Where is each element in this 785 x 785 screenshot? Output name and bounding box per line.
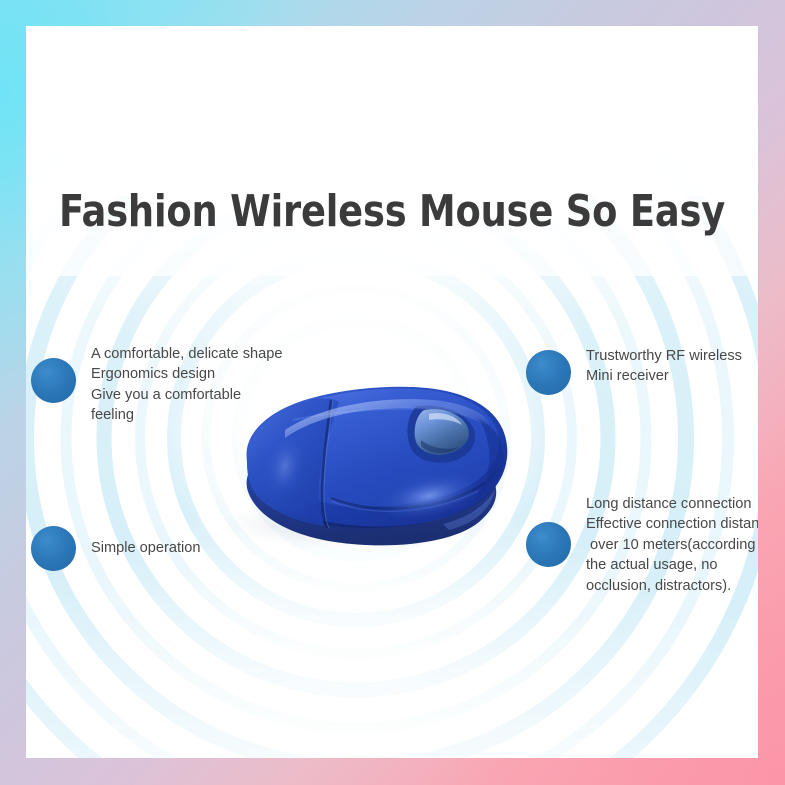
bullet-dot-icon <box>31 526 76 571</box>
page-title: Fashion Wireless Mouse So Easy <box>52 186 733 237</box>
bullet-dot-icon <box>31 358 76 403</box>
product-info-panel: Fashion Wireless Mouse So Easy <box>26 26 758 758</box>
bullet-dot-icon <box>526 350 571 395</box>
gradient-frame: Fashion Wireless Mouse So Easy <box>0 0 785 785</box>
feature-simple-operation-text: Simple operation <box>91 538 201 558</box>
feature-comfort-text: A comfortable, delicate shape Ergonomics… <box>91 344 282 426</box>
feature-rf-wireless-text: Trustworthy RF wireless Mini receiver <box>586 346 742 387</box>
feature-long-distance-text: Long distance connection Effective conne… <box>586 494 758 596</box>
bullet-dot-icon <box>526 522 571 567</box>
